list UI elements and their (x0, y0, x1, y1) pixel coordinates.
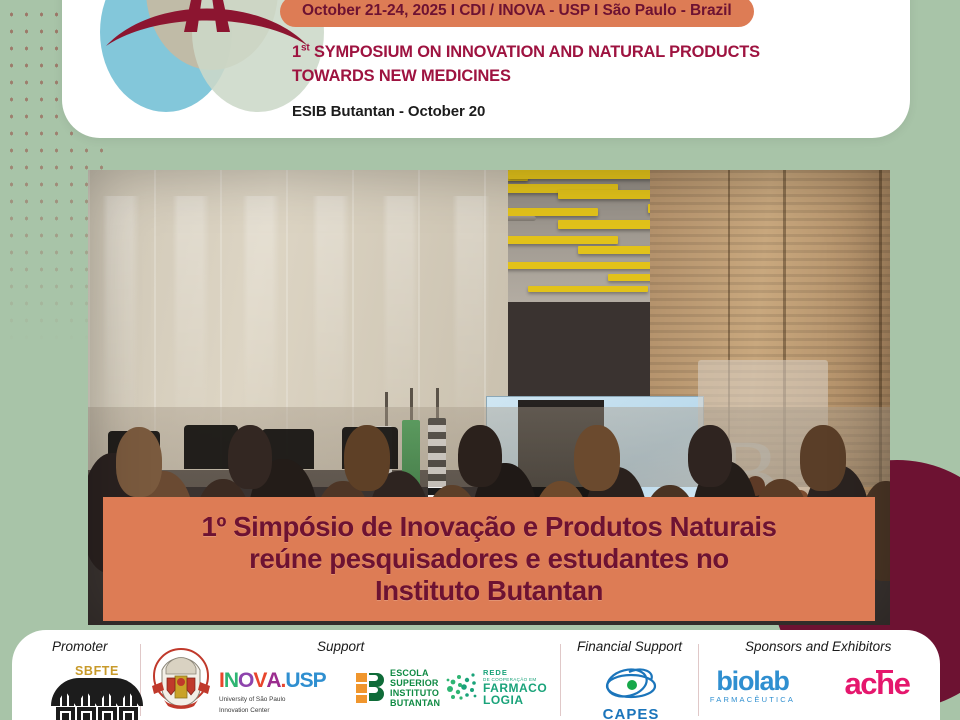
inova-tagline-line-1: University of São Paulo (219, 696, 347, 705)
title-line-2: TOWARDS NEW MEDICINES (292, 67, 511, 85)
inova-letter-n: N (224, 669, 238, 693)
inova-letter-o: O (238, 669, 253, 693)
label-financial-support: Financial Support (577, 639, 682, 654)
escola-b-mark-icon (355, 671, 385, 705)
inova-letter-s: S (300, 669, 313, 693)
logo-sbfte[interactable]: SBFTE (46, 664, 148, 720)
inova-tagline-line-2: Innovation Center (219, 707, 347, 716)
title-ordinal: st (301, 43, 310, 54)
escola-line-2: SUPERIOR (390, 678, 440, 688)
biolab-wordmark: biolab (705, 668, 800, 695)
logo-escola-superior-butantan[interactable]: ESCOLA SUPERIOR INSTITUTO BUTANTAN (355, 668, 477, 709)
sbfte-wordmark: SBFTE (46, 664, 148, 678)
escola-line-3: INSTITUTO (390, 688, 440, 698)
sbfte-squares-icon (46, 707, 148, 720)
ache-macron-icon (876, 670, 893, 673)
caption-line-2: reúne pesquisadores e estudantes no (249, 543, 729, 574)
rede-line-4: LOGIA (483, 694, 547, 706)
label-support: Support (317, 639, 364, 654)
page-title: 1st SYMPOSIUM ON INNOVATION AND NATURAL … (292, 40, 910, 88)
caption-text: 1º Simpósio de Inovação e Produtos Natur… (201, 511, 776, 608)
page-subtitle: ESIB Butantan - October 20 (292, 103, 485, 120)
label-sponsors: Sponsors and Exhibitors (745, 639, 891, 654)
caption-line-1: 1º Simpósio de Inovação e Produtos Natur… (201, 511, 776, 542)
logo-biolab[interactable]: biolab FARMACÊUTICA (705, 668, 800, 704)
inova-letter-u: U (285, 669, 299, 693)
rede-line-1: REDE (483, 668, 547, 677)
logo-rede-farmacologia[interactable]: REDE DE COOPERAÇÃO EM FARMACO LOGIA (460, 668, 560, 706)
logo-capes[interactable]: CAPES (592, 666, 670, 720)
capes-eye-icon (599, 666, 663, 700)
biolab-subtitle: FARMACÊUTICA (705, 695, 800, 704)
capes-wordmark: CAPES (592, 706, 670, 720)
logo-usp-crest[interactable] (150, 646, 212, 714)
logo-ache[interactable]: ache (818, 668, 936, 699)
audience-head (344, 425, 390, 491)
inova-wordmark: I N O V A . U S P (219, 668, 347, 694)
inova-letter-a: A (266, 669, 280, 693)
audience-head (458, 425, 502, 487)
audience-head (800, 425, 846, 491)
label-promoter: Promoter (52, 639, 108, 654)
title-line-1: SYMPOSIUM ON INNOVATION AND NATURAL PROD… (310, 43, 760, 61)
audience-head (228, 425, 272, 489)
caption-line-3: Instituto Butantan (375, 575, 603, 606)
logo-inova-usp[interactable]: I N O V A . U S P University of São Paul… (219, 668, 347, 715)
inova-letter-p: P (313, 669, 326, 693)
photo-caption-banner: 1º Simpósio de Inovação e Produtos Natur… (103, 497, 875, 621)
title-prefix: 1 (292, 43, 301, 61)
audience-head (116, 427, 162, 497)
inova-letter-v: V (253, 669, 266, 693)
escola-line-1: ESCOLA (390, 668, 440, 678)
sbfte-arch-icon (51, 678, 143, 706)
rede-molecule-icon (460, 672, 480, 702)
event-date-pill: October 21-24, 2025 I CDI / INOVA - USP … (280, 0, 754, 27)
audience-head (688, 425, 732, 487)
audience-head (574, 425, 620, 491)
escola-line-4: BUTANTAN (390, 698, 440, 708)
event-header-card: October 21-24, 2025 I CDI / INOVA - USP … (62, 0, 910, 138)
